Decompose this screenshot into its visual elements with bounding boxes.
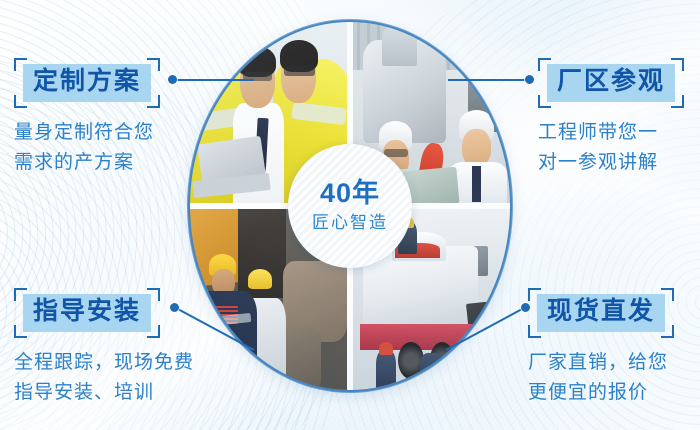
corner-bracket-bottom-right-icon	[147, 325, 160, 338]
feature-description: 量身定制符合您 需求的产方案	[14, 118, 160, 180]
feature-description-line: 工程师带您一	[538, 118, 684, 149]
feature-tag-label: 现货直发	[537, 294, 665, 332]
feature-description: 全程跟踪，现场免费 指导安装、培训	[14, 348, 194, 410]
corner-bracket-top-right-icon	[671, 58, 684, 71]
feature-description: 工程师带您一 对一参观讲解	[538, 118, 684, 180]
corner-bracket-bottom-right-icon	[671, 95, 684, 108]
corner-bracket-top-right-icon	[147, 288, 160, 301]
corner-bracket-top-right-icon	[147, 58, 160, 71]
service-highlights-banner: 40年 匠心智造 定制方案 量身定制符合您 需求的产	[0, 0, 700, 430]
feature-custom-plan: 定制方案 量身定制符合您 需求的产方案	[14, 58, 160, 179]
corner-bracket-top-left-icon	[528, 288, 541, 301]
corner-bracket-top-left-icon	[14, 58, 27, 71]
badge-headline: 40年	[320, 179, 380, 209]
corner-bracket-bottom-left-icon	[528, 325, 541, 338]
feature-description-line: 厂家直销，给您	[528, 348, 674, 379]
connector-bottom-right-line	[442, 302, 532, 354]
feature-tag-label: 厂区参观	[547, 64, 675, 102]
center-badge: 40年 匠心智造	[288, 144, 412, 268]
feature-installation-guidance: 指导安装 全程跟踪，现场免费 指导安装、培训	[14, 288, 194, 409]
corner-bracket-bottom-right-icon	[147, 95, 160, 108]
connector-top-right	[448, 74, 534, 86]
feature-description-line: 指导安装、培训	[14, 378, 194, 409]
corner-bracket-bottom-left-icon	[538, 95, 551, 108]
corner-bracket-bottom-left-icon	[14, 95, 27, 108]
feature-tag-wrapper: 现货直发	[528, 288, 674, 338]
corner-bracket-top-right-icon	[661, 288, 674, 301]
feature-tag-wrapper: 定制方案	[14, 58, 160, 108]
connector-top-left	[168, 74, 254, 86]
feature-tag-wrapper: 厂区参观	[538, 58, 684, 108]
feature-description: 厂家直销，给您 更便宜的报价	[528, 348, 674, 410]
corner-bracket-top-left-icon	[538, 58, 551, 71]
corner-bracket-bottom-right-icon	[661, 325, 674, 338]
feature-description-line: 量身定制符合您	[14, 118, 160, 149]
feature-description-line: 对一参观讲解	[538, 148, 684, 179]
feature-description-line: 全程跟踪，现场免费	[14, 348, 194, 379]
corner-bracket-bottom-left-icon	[14, 325, 27, 338]
connector-bottom-right	[442, 302, 532, 354]
feature-tag-label: 定制方案	[23, 64, 151, 102]
badge-subtitle: 匠心智造	[312, 214, 388, 233]
feature-factory-tour: 厂区参观 工程师带您一 对一参观讲解	[538, 58, 684, 179]
feature-in-stock-shipping: 现货直发 厂家直销，给您 更便宜的报价	[528, 288, 674, 409]
feature-tag-wrapper: 指导安装	[14, 288, 160, 338]
feature-description-line: 更便宜的报价	[528, 378, 674, 409]
feature-description-line: 需求的产方案	[14, 148, 160, 179]
corner-bracket-top-left-icon	[14, 288, 27, 301]
feature-tag-label: 指导安装	[23, 294, 151, 332]
